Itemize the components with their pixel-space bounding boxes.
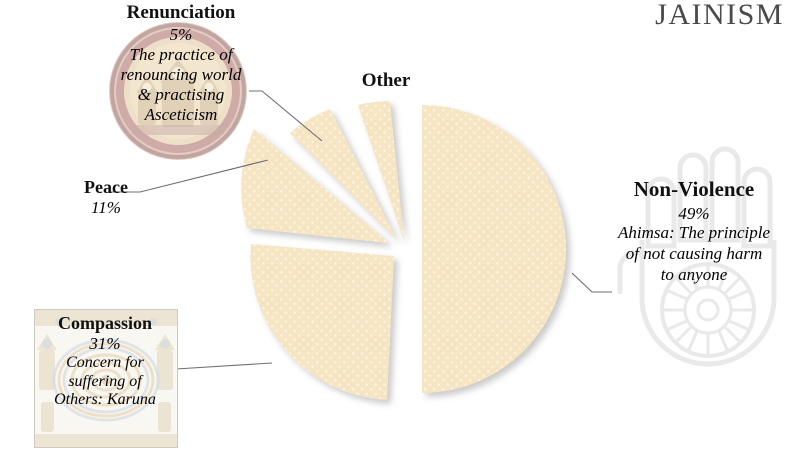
pie-slice-compassion[interactable] <box>250 244 394 400</box>
other-label: Other <box>336 70 436 92</box>
callout-other[interactable]: Other <box>336 70 436 92</box>
non-violence-percent: 49% <box>588 204 800 224</box>
renunciation-desc-line-4: Asceticism <box>86 105 276 125</box>
callout-compassion[interactable]: Compassion 31% Concern for suffering of … <box>34 313 176 410</box>
non-violence-desc-line-2: of not causing harm <box>588 244 800 265</box>
compassion-desc-line-1: Concern for <box>34 354 176 373</box>
infographic-canvas: JAINISM <box>0 0 800 471</box>
pie-slice-non-violence[interactable] <box>422 105 566 393</box>
leader-line-compassion <box>176 363 272 369</box>
non-violence-label: Non-Violence <box>588 177 800 202</box>
compassion-desc-line-3: Others: Karuna <box>34 391 176 410</box>
non-violence-desc-line-1: Ahimsa: The principle <box>588 223 800 244</box>
renunciation-desc-line-3: & practising <box>86 85 276 105</box>
non-violence-desc-line-3: to anyone <box>588 265 800 286</box>
renunciation-label: Renunciation <box>86 2 276 24</box>
peace-label: Peace <box>58 177 154 198</box>
callout-non-violence[interactable]: Non-Violence 49% Ahimsa: The principle o… <box>588 177 800 286</box>
callout-peace[interactable]: Peace 11% <box>58 177 154 218</box>
compassion-percent: 31% <box>34 334 176 354</box>
renunciation-desc-line-1: The practice of <box>86 45 276 65</box>
compassion-label: Compassion <box>34 313 176 334</box>
renunciation-desc-line-2: renouncing world <box>86 65 276 85</box>
callout-renunciation[interactable]: Renunciation 5% The practice of renounci… <box>86 2 276 125</box>
compassion-desc-line-2: suffering of <box>34 373 176 392</box>
peace-percent: 11% <box>58 198 154 218</box>
renunciation-percent: 5% <box>86 25 276 45</box>
